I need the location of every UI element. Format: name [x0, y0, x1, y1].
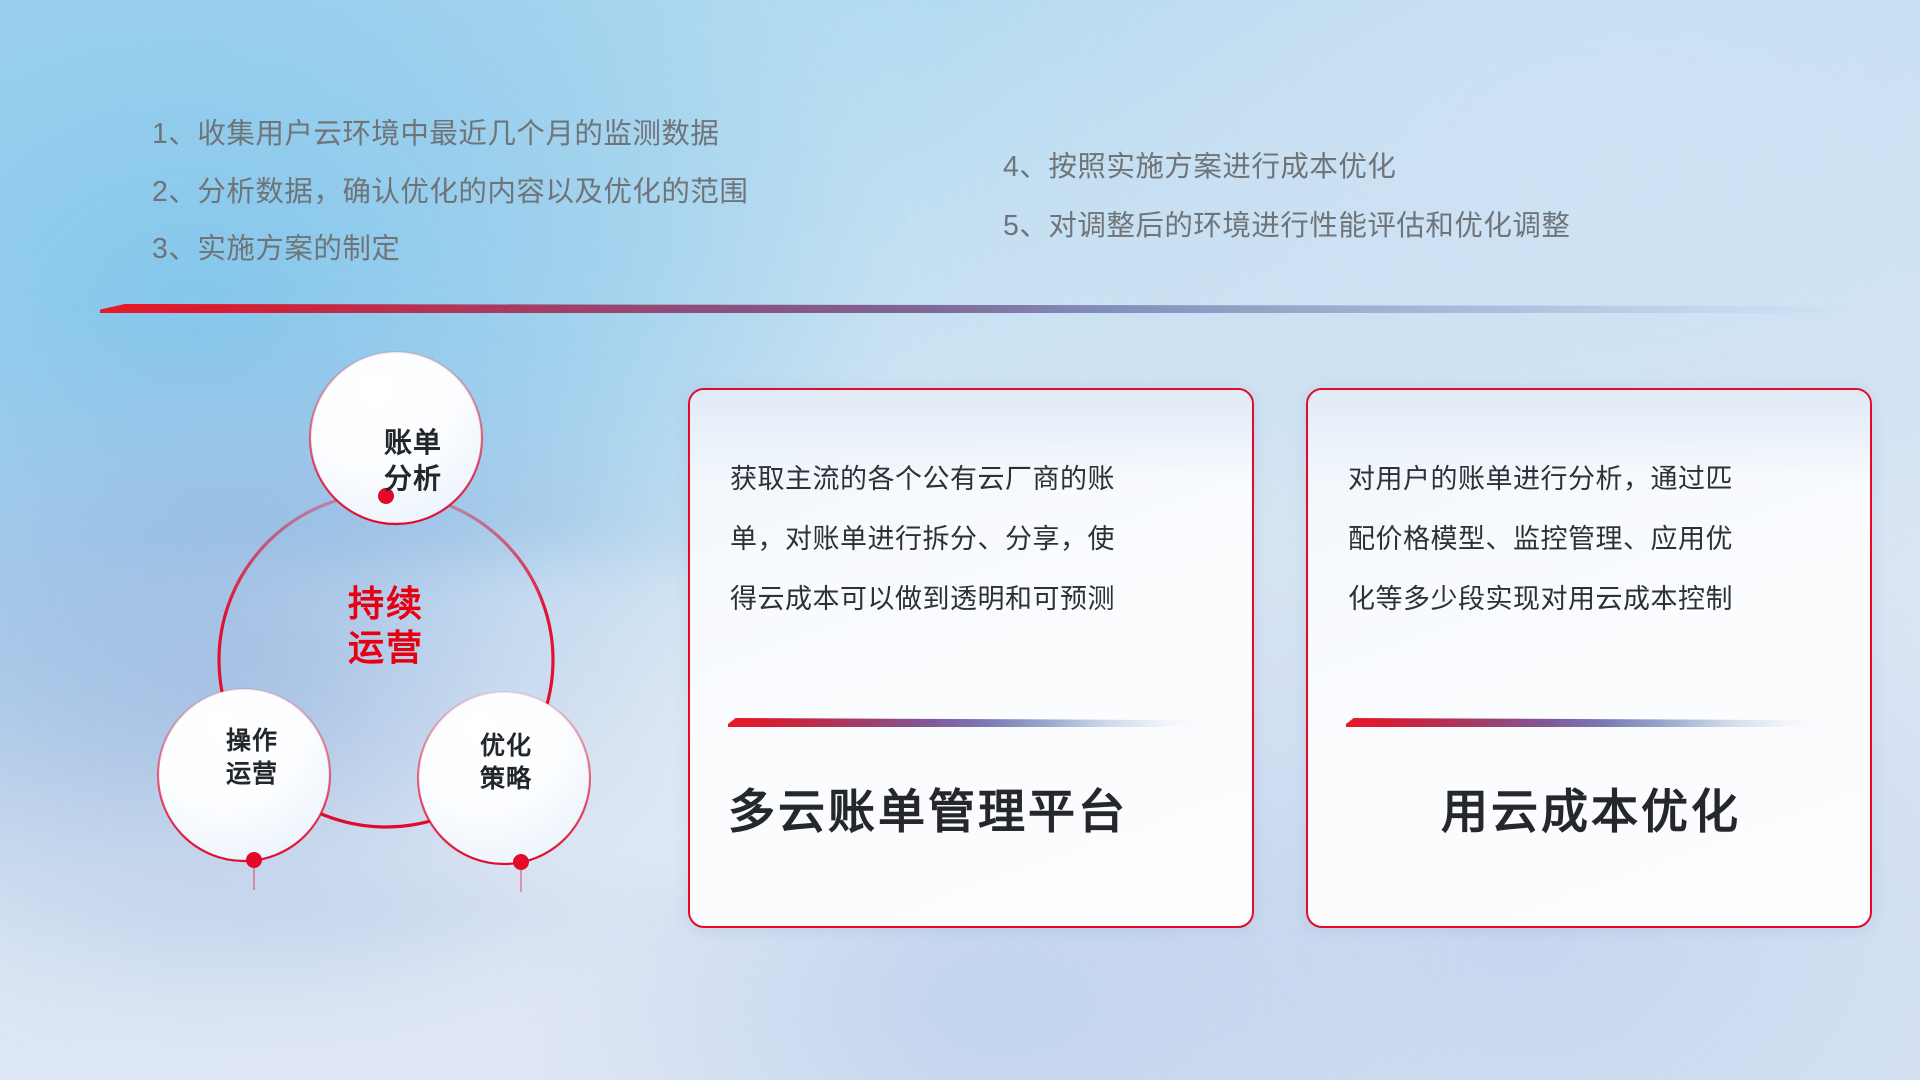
node-dot-left	[246, 852, 262, 868]
node-dot-top	[378, 488, 394, 504]
diagram-center-label: 持续 运营	[286, 582, 486, 670]
continuous-operation-diagram: 账单 分析 操作 运营 优化 策略 持续 运营	[96, 350, 656, 970]
card-cloud-cost-optimization[interactable]: 对用户的账单进行分析，通过匹 配价格模型、监控管理、应用优 化等多少段实现对用云…	[1306, 388, 1872, 928]
step-item-5: 5、对调整后的环境进行性能评估和优化调整	[1003, 212, 1570, 241]
node-bubble-top[interactable]	[310, 352, 482, 524]
card-multi-cloud-billing-platform[interactable]: 获取主流的各个公有云厂商的账 单，对账单进行拆分、分享，使 得云成本可以做到透明…	[688, 388, 1254, 928]
steps-list-right: 4、按照实施方案进行成本优化 5、对调整后的环境进行性能评估和优化调整	[1003, 153, 1570, 270]
step-item-4: 4、按照实施方案进行成本优化	[1003, 153, 1570, 182]
step-item-1: 1、收集用户云环境中最近几个月的监测数据	[152, 120, 748, 149]
node-bubble-left[interactable]	[158, 689, 330, 861]
step-item-3: 3、实施方案的制定	[152, 235, 748, 264]
card-title: 用云成本优化	[1346, 786, 1836, 838]
steps-list-left: 1、收集用户云环境中最近几个月的监测数据 2、分析数据，确认优化的内容以及优化的…	[152, 120, 748, 293]
card-description: 对用户的账单进行分析，通过匹 配价格模型、监控管理、应用优 化等多少段实现对用云…	[1348, 450, 1836, 630]
step-item-2: 2、分析数据，确认优化的内容以及优化的范围	[152, 178, 748, 207]
card-accent-gradient-bar	[1346, 718, 1824, 727]
node-dot-right	[513, 854, 529, 870]
card-accent-gradient-bar	[728, 718, 1206, 727]
node-bubble-right[interactable]	[418, 692, 590, 864]
card-accent-line	[728, 718, 1206, 727]
card-title: 多云账单管理平台	[728, 786, 1218, 838]
divider-gradient-bar	[100, 304, 1860, 313]
section-divider	[100, 304, 1860, 313]
card-description: 获取主流的各个公有云厂商的账 单，对账单进行拆分、分享，使 得云成本可以做到透明…	[730, 450, 1218, 630]
card-accent-line	[1346, 718, 1824, 727]
